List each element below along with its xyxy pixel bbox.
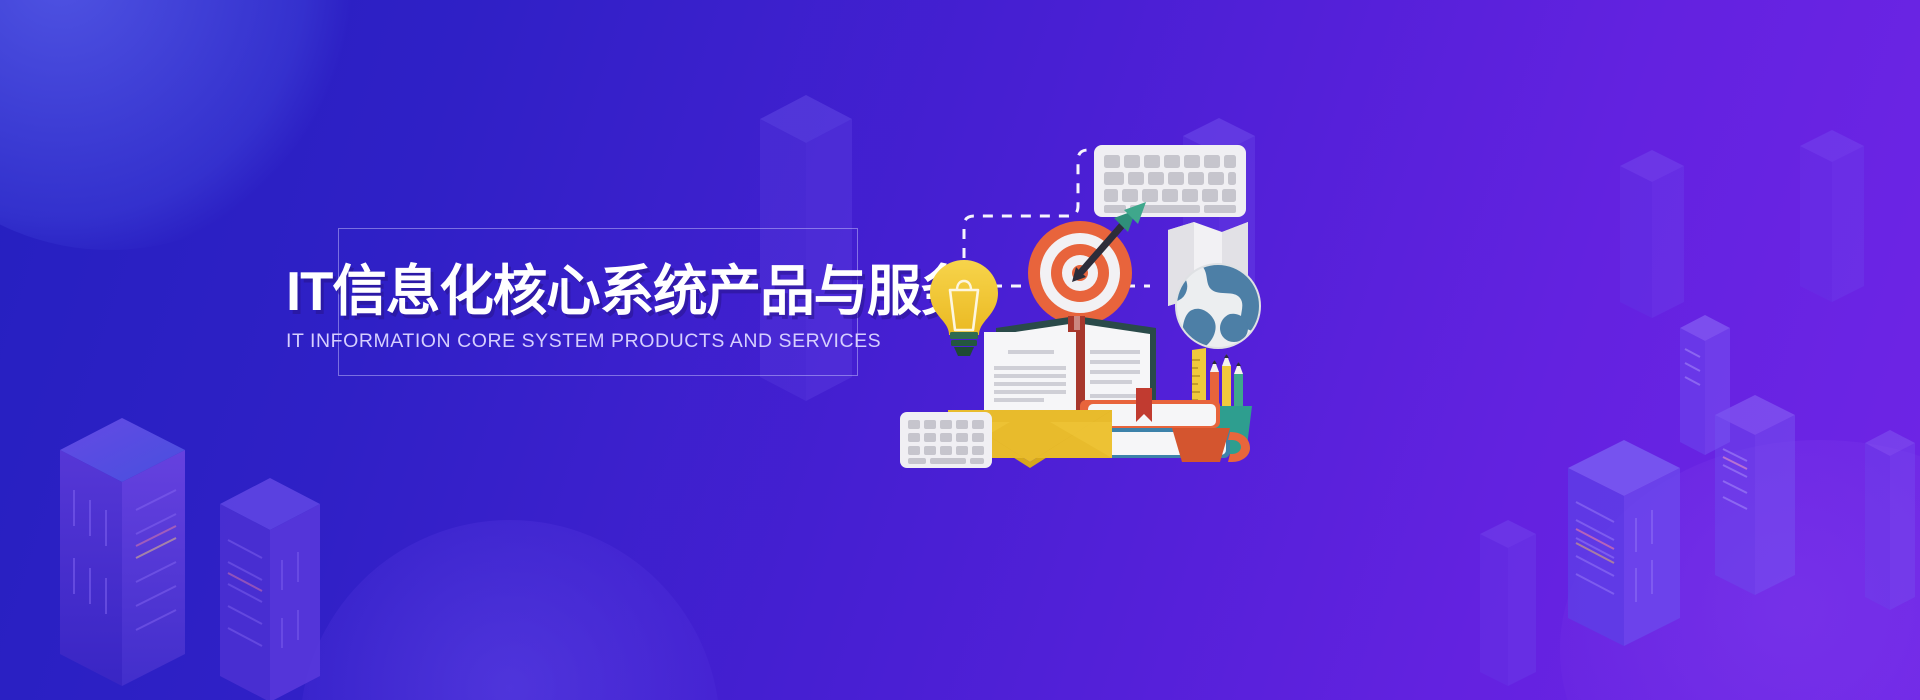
isometric-building-icon: [220, 478, 360, 700]
hero-banner: IT信息化核心系统产品与服务 IT INFORMATION CORE SYSTE…: [0, 0, 1920, 700]
target-arrow-icon: [1028, 202, 1146, 325]
isometric-building-icon: [1480, 520, 1560, 700]
isometric-building-icon: [1800, 130, 1890, 320]
isometric-building-icon: [1680, 315, 1750, 475]
illustration-group: [900, 110, 1320, 490]
isometric-building-icon: [60, 418, 235, 700]
isometric-building-icon: [1865, 430, 1920, 630]
title-block: IT信息化核心系统产品与服务 IT INFORMATION CORE SYSTE…: [286, 262, 906, 353]
keyboard-top-icon: [1094, 145, 1246, 217]
globe-icon: [1146, 264, 1262, 349]
keyboard-bottom-icon: [900, 412, 992, 468]
circle-glow-bottom-left-icon: [300, 520, 720, 700]
circle-glow-top-left-icon: [0, 0, 360, 250]
page-subtitle: IT INFORMATION CORE SYSTEM PRODUCTS AND …: [286, 330, 906, 353]
page-title: IT信息化核心系统产品与服务: [286, 262, 900, 320]
isometric-building-icon: [1620, 150, 1710, 335]
